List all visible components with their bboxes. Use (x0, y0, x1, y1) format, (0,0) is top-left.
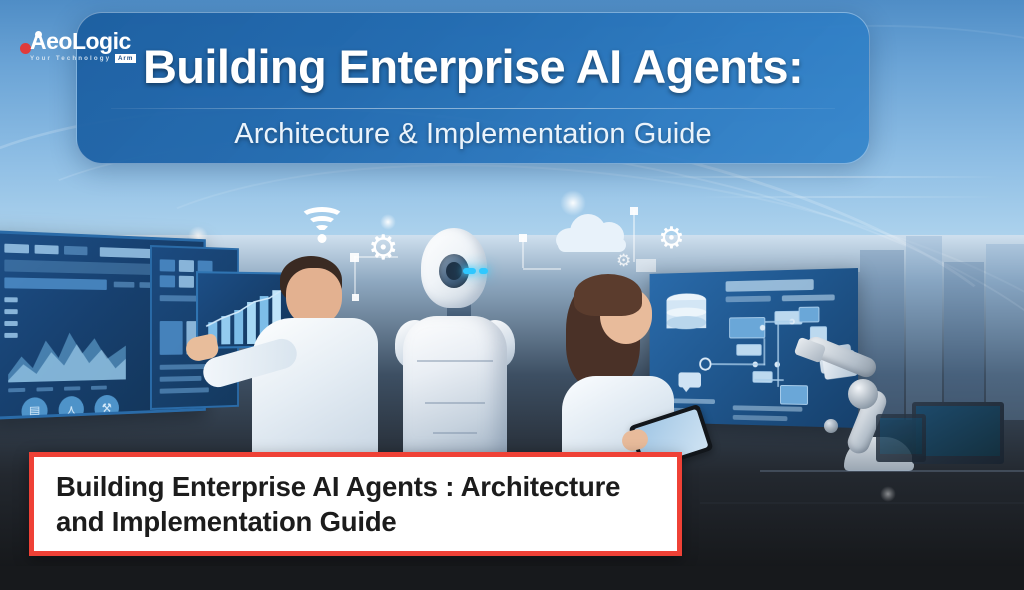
caption-box: Building Enterprise AI Agents : Architec… (29, 452, 682, 556)
analyst-man (248, 256, 378, 466)
flow-node-2 (736, 344, 761, 356)
bottom-strip (0, 566, 1024, 590)
brand-logo[interactable]: AeoLogic Your Technology Arm (20, 30, 132, 70)
header-card: Building Enterprise AI Agents: Architect… (76, 12, 870, 164)
page-subtitle: Architecture & Implementation Guide (77, 118, 869, 151)
logo-tagline-prefix: Your Technology (30, 55, 111, 62)
page-title: Building Enterprise AI Agents: (77, 39, 869, 94)
robot-eye-left (463, 268, 476, 274)
header-divider (111, 108, 835, 109)
glow-dot-3 (380, 214, 396, 230)
gear-icon-3: ⚙ (616, 252, 631, 269)
logo-wordmark: AeoLogic (30, 30, 131, 53)
logo-tagline-badge: Arm (115, 54, 136, 63)
flow-node-4 (799, 307, 820, 323)
desk-monitor-2 (876, 414, 926, 462)
wifi-icon (296, 207, 348, 243)
light-beam-1 (640, 176, 1000, 178)
woman-hair-front (574, 274, 642, 316)
arm-joint-low (824, 419, 838, 433)
network-link-3 (522, 238, 524, 268)
caption-text: Building Enterprise AI Agents : Architec… (34, 469, 677, 539)
gear-icon-2: ⚙ (658, 224, 685, 254)
poster-canvas: ▤ ⋏ ⚒ (0, 0, 1024, 590)
network-link-5 (633, 210, 635, 262)
robot-eye-right (479, 268, 488, 274)
area-chart (8, 321, 126, 382)
ai-robot (395, 228, 515, 463)
flow-dot-1 (760, 325, 765, 331)
network-link-4 (523, 268, 561, 270)
robot-head (421, 228, 487, 308)
robot-torso (403, 316, 507, 464)
arm-joint-mid (848, 379, 878, 409)
light-beam-2 (700, 196, 1000, 198)
building-block-3 (944, 262, 984, 420)
flow-node-6 (753, 371, 773, 383)
chart-icon[interactable]: ▤ (21, 397, 47, 420)
analyst-woman (556, 272, 682, 470)
building-block-4 (986, 244, 1024, 420)
logo-tagline: Your Technology Arm (30, 55, 136, 62)
floor-glow-dot (880, 486, 896, 502)
cloud-icon (556, 212, 630, 252)
flow-ring-node (699, 357, 711, 370)
network-node-5 (636, 259, 656, 272)
desk-edge (760, 470, 1024, 472)
floor-line (700, 502, 1024, 504)
